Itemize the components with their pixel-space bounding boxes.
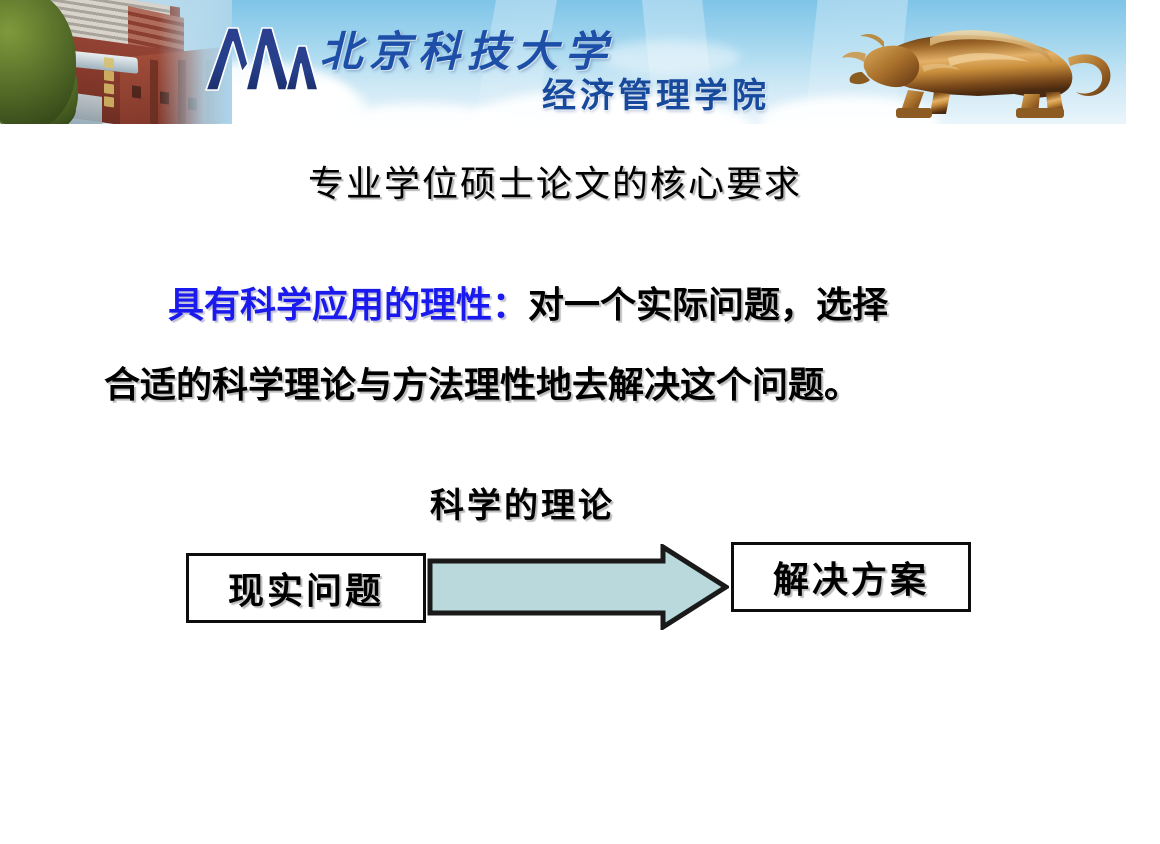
- arrow-label: 科学的理论: [430, 478, 615, 527]
- page-title: 专业学位硕士论文的核心要求: [0, 155, 1110, 207]
- slide-body-text: 具有科学应用的理性：对一个实际问题，选择 合适的科学理论与方法理性地去解决这个问…: [96, 266, 1064, 426]
- flow-diagram: 科学的理论 现实问题 解决方案: [180, 470, 980, 640]
- right-arrow-icon: [427, 544, 729, 630]
- body-highlight-phrase: 具有科学应用的理性：: [168, 285, 528, 326]
- tree-foliage: [0, 0, 76, 124]
- campus-building-photo: [0, 0, 232, 124]
- golden-bull-statue-icon: [838, 8, 1126, 124]
- presentation-slide: 北京科技大学 经济管理学院: [0, 0, 1160, 844]
- body-line-2: 合适的科学理论与方法理性地去解决这个问题。: [96, 346, 1064, 426]
- building-window: [160, 91, 169, 104]
- building-window: [132, 85, 141, 98]
- ustb-mountain-logo-icon: [202, 24, 322, 92]
- diagram-target-box: 解决方案: [731, 542, 971, 612]
- slide-header-banner: 北京科技大学 经济管理学院: [0, 0, 1126, 124]
- body-line-1-rest: 对一个实际问题，选择: [528, 285, 888, 326]
- building-column: [178, 59, 186, 124]
- banner-school-name: 经济管理学院: [542, 68, 770, 117]
- body-line-1: 具有科学应用的理性：对一个实际问题，选择: [96, 266, 1064, 346]
- diagram-source-box: 现实问题: [186, 553, 426, 623]
- building-column: [150, 59, 158, 124]
- building-vertical-sign: [104, 57, 117, 121]
- building-window: [188, 97, 197, 110]
